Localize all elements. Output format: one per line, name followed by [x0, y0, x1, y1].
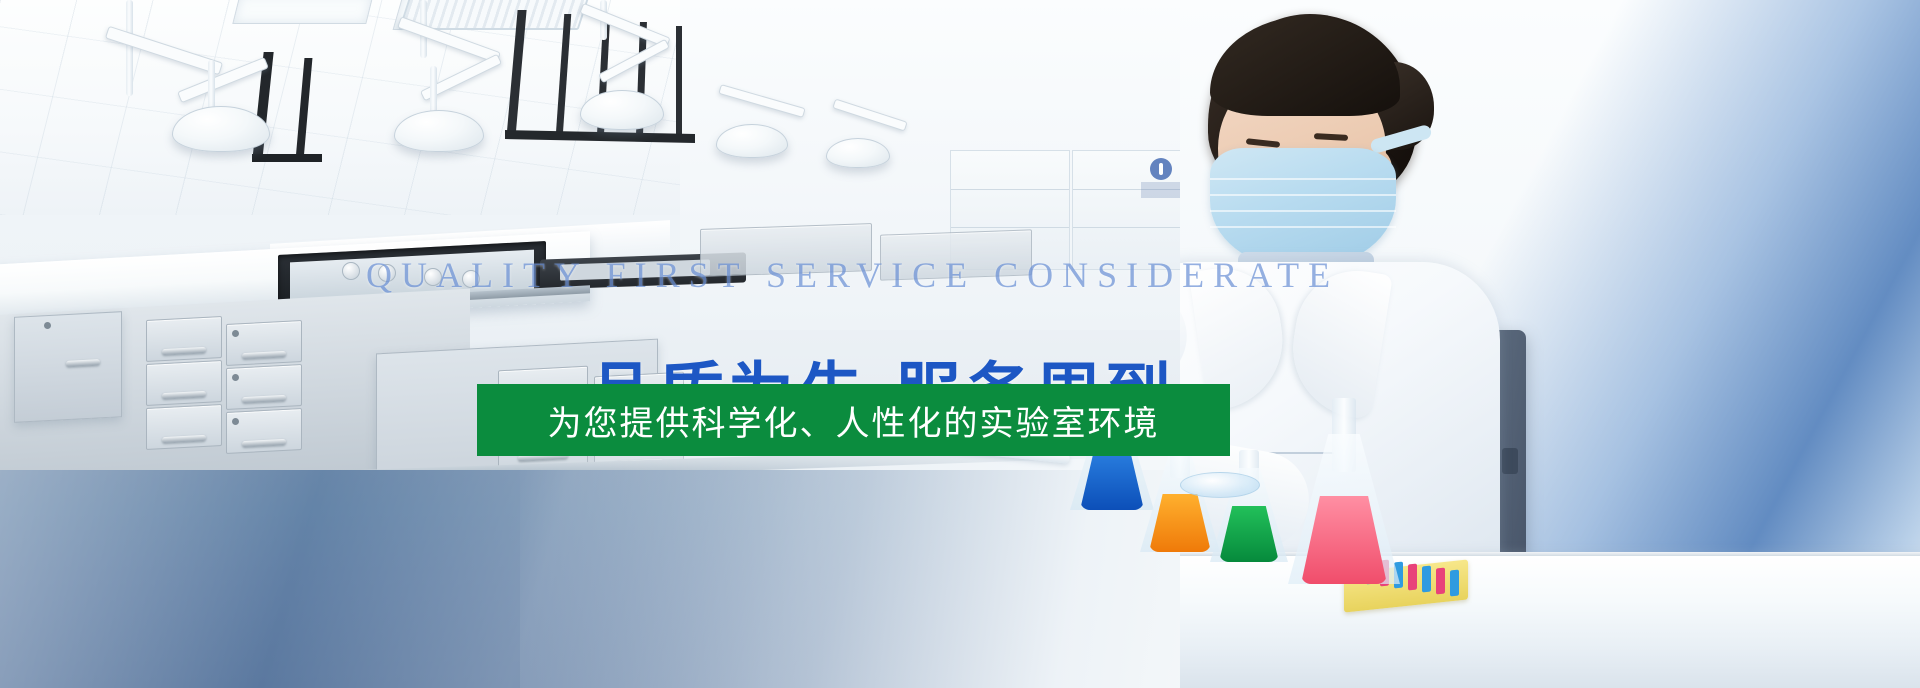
hero-banner: QUALITY FIRST SERVICE CONSIDERATE 品质为先 服…: [0, 0, 1920, 688]
text-overlay: QUALITY FIRST SERVICE CONSIDERATE 品质为先 服…: [0, 0, 1920, 688]
eyebrow-tagline: QUALITY FIRST SERVICE CONSIDERATE: [366, 254, 1339, 296]
subtitle-text: 为您提供科学化、人性化的实验室环境: [548, 396, 1160, 445]
subtitle-banner: 为您提供科学化、人性化的实验室环境: [477, 384, 1230, 456]
